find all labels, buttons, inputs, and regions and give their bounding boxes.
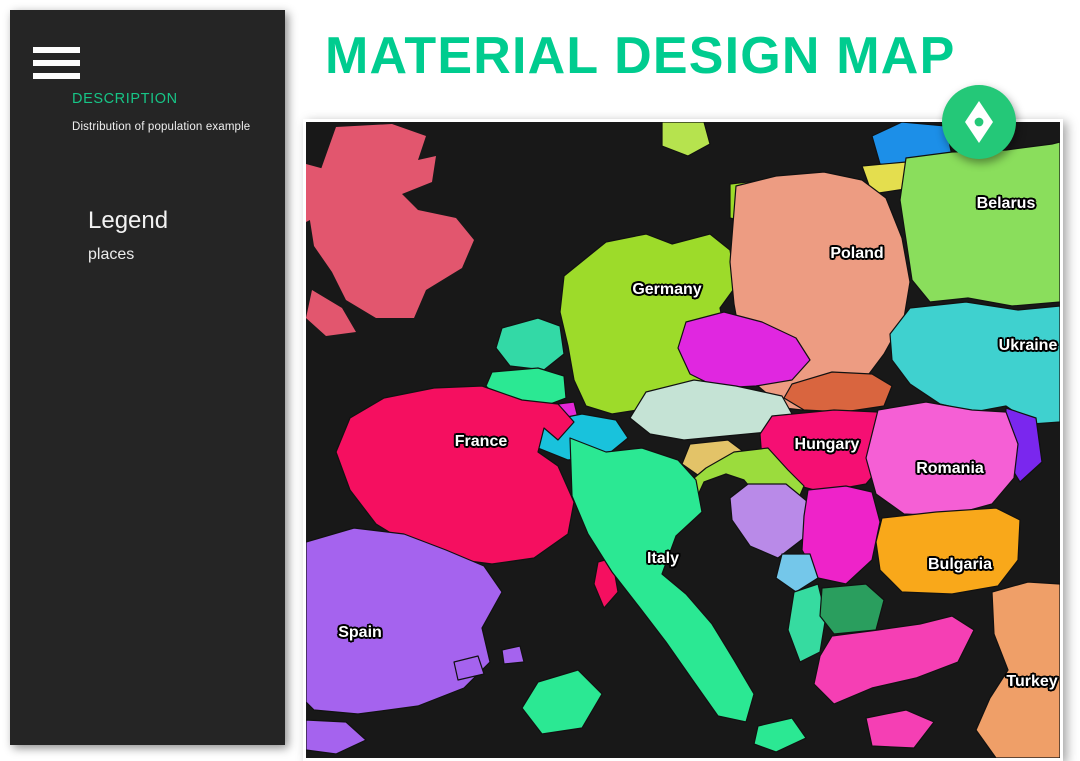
hamburger-menu-icon[interactable] <box>33 42 91 84</box>
legend-title: Legend <box>88 207 168 235</box>
region-macedonia[interactable] <box>820 584 884 634</box>
description-label: DESCRIPTION <box>72 91 178 107</box>
page-title: MATERIAL DESIGN MAP <box>325 26 1025 86</box>
menu-bar-top <box>33 47 80 53</box>
locate-fab-button[interactable] <box>942 85 1016 159</box>
region-bulgaria[interactable] <box>876 508 1020 594</box>
europe-map-svg <box>306 122 1060 758</box>
menu-bar-bottom <box>33 73 80 79</box>
map-canvas[interactable]: Belarus Poland Germany Ukraine France Hu… <box>306 122 1060 758</box>
map-container[interactable]: Belarus Poland Germany Ukraine France Hu… <box>303 119 1063 761</box>
region-romania[interactable] <box>866 402 1018 516</box>
legend-subtitle: places <box>88 246 134 264</box>
location-pin-icon <box>962 100 996 144</box>
sidebar-panel: DESCRIPTION Distribution of population e… <box>10 10 285 745</box>
menu-bar-middle <box>33 60 80 66</box>
description-text: Distribution of population example <box>72 121 250 133</box>
map-application: DESCRIPTION Distribution of population e… <box>0 0 1080 761</box>
region-belarus[interactable] <box>900 142 1060 306</box>
